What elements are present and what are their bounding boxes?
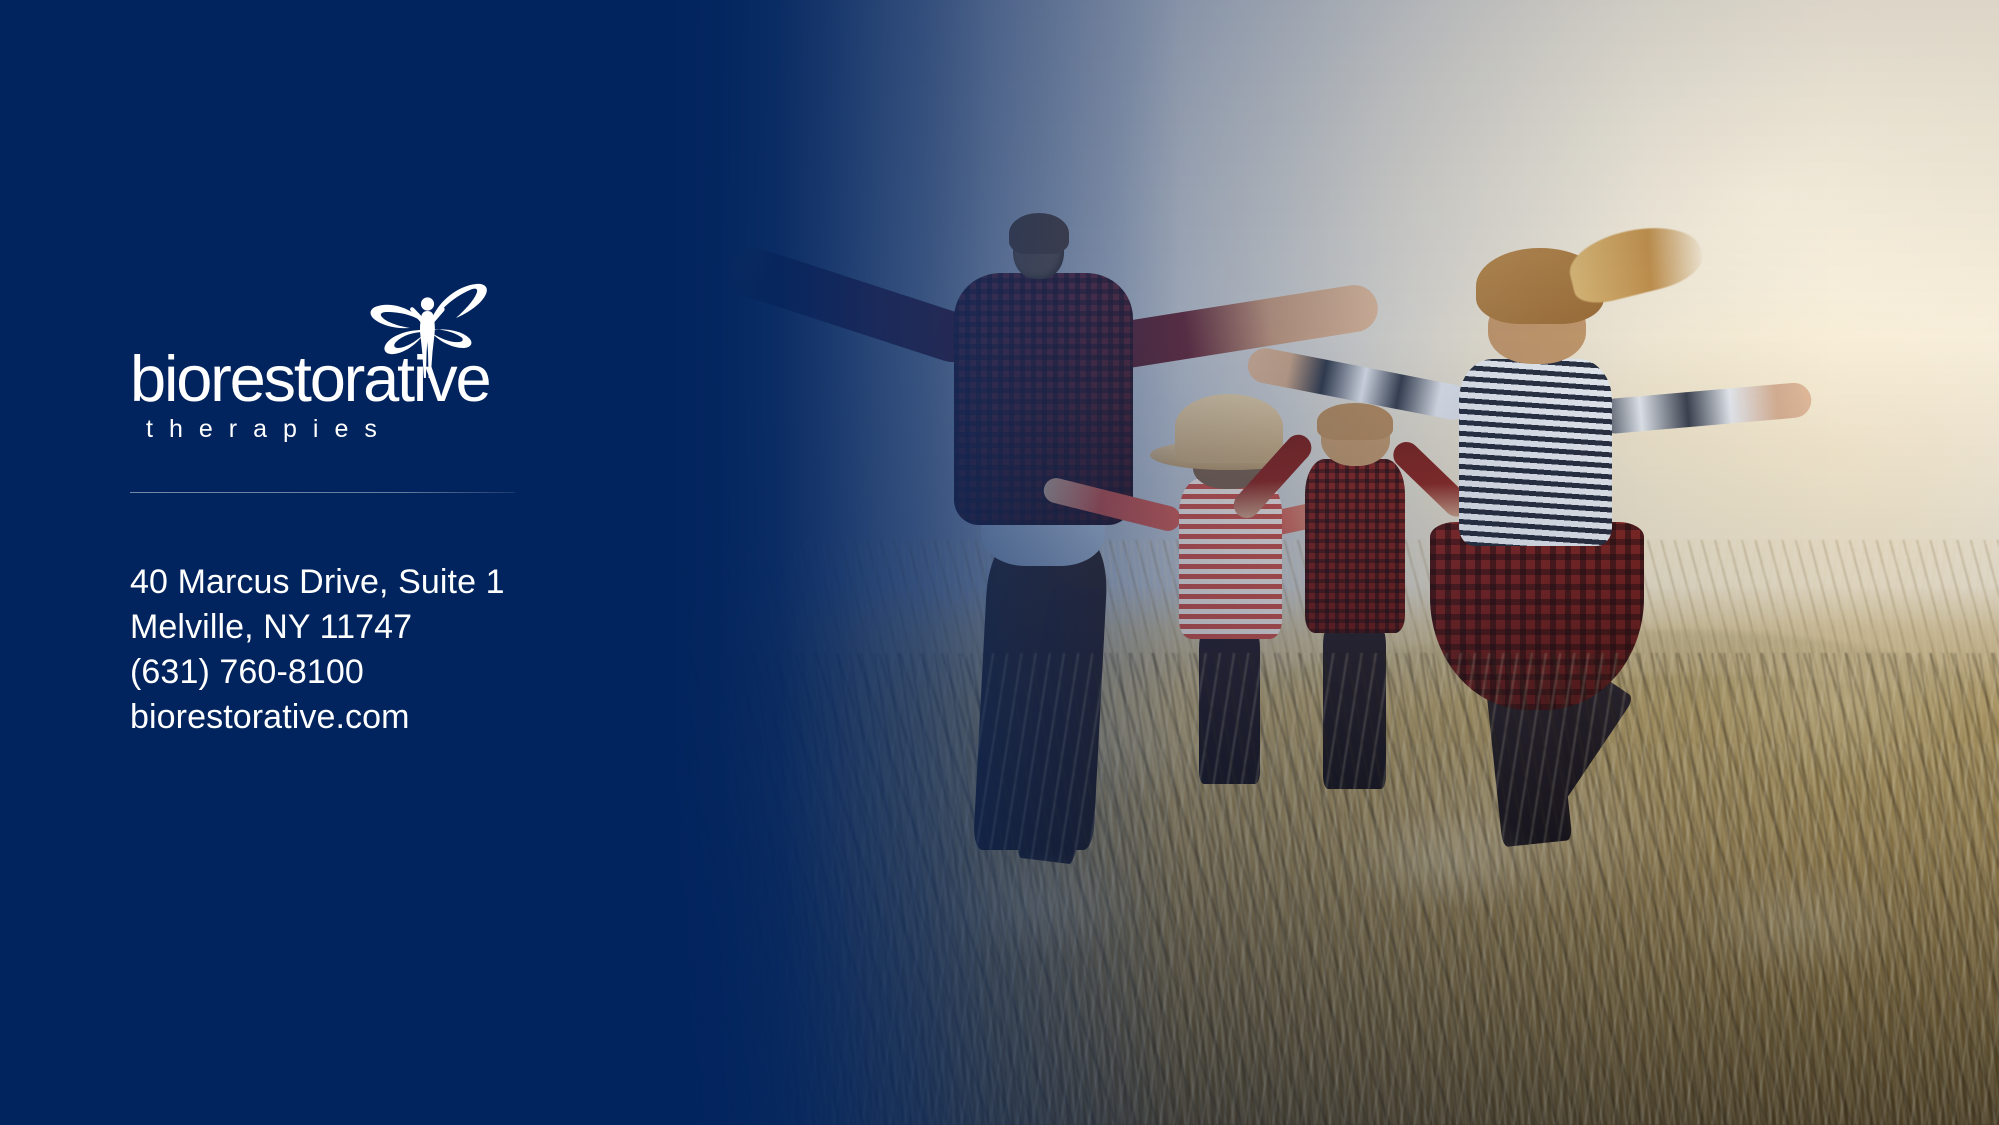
contact-panel: biorestorative therapies 40 Marcus Drive… [130, 300, 690, 460]
slide-root: biorestorative therapies 40 Marcus Drive… [0, 0, 1999, 1125]
logo[interactable]: biorestorative therapies [130, 300, 530, 460]
logo-wordmark: biorestorative [130, 346, 489, 411]
website-url[interactable]: biorestorative.com [130, 695, 505, 740]
phone-number[interactable]: (631) 760-8100 [130, 650, 505, 695]
logo-subtitle: therapies [146, 417, 393, 442]
address-street: 40 Marcus Drive, Suite 1 [130, 560, 505, 605]
address-block: 40 Marcus Drive, Suite 1 Melville, NY 11… [130, 560, 505, 740]
divider [130, 492, 515, 493]
address-city-state-zip: Melville, NY 11747 [130, 605, 505, 650]
